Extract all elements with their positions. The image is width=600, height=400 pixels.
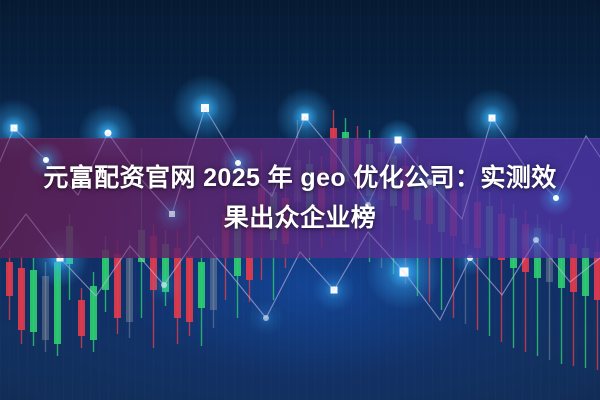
cover-image: 元富配资官网 2025 年 geo 优化公司：实测效 果出众企业榜 [0, 0, 600, 400]
title-line-2: 果出众企业榜 [224, 198, 376, 238]
title-line-1: 元富配资官网 2025 年 geo 优化公司：实测效 [43, 158, 556, 198]
title-block: 元富配资官网 2025 年 geo 优化公司：实测效 果出众企业榜 [0, 138, 600, 258]
